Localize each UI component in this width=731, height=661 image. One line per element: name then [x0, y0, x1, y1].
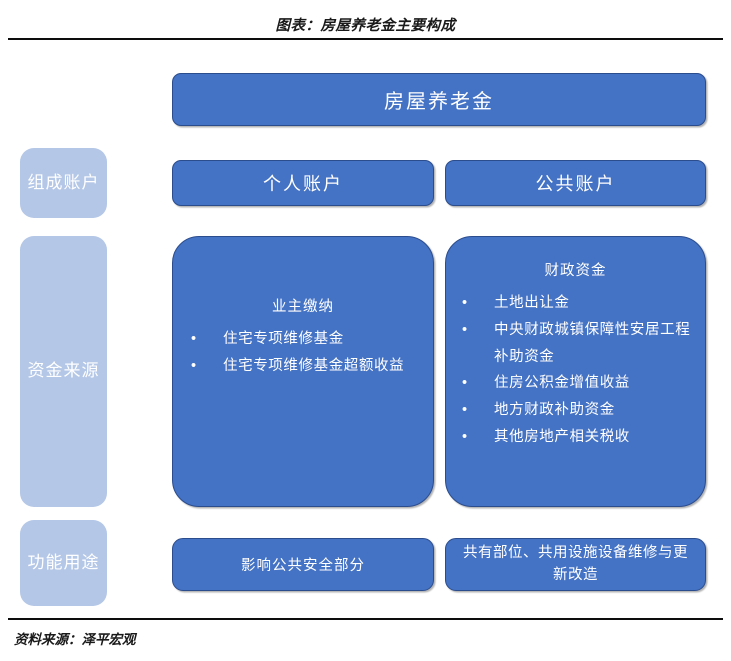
list-item: • 中央财政城镇保障性安居工程补助资金 — [462, 317, 705, 371]
list-item: • 住房公积金增值收益 — [462, 370, 705, 397]
sidebar-item-funding: 资金来源 — [20, 236, 107, 507]
list-item-label: 住房公积金增值收益 — [494, 375, 630, 391]
diagram-node-personal-account: 个人账户 — [172, 160, 434, 206]
owner-funding-list: • 住宅专项维修基金 • 住宅专项维修基金超额收益 — [173, 326, 433, 380]
diagram-node-public-use-label: 共有部位、共用设施设备维修与更新改造 — [456, 543, 695, 587]
diagram-node-personal-use: 影响公共安全部分 — [172, 538, 434, 591]
fiscal-funding-heading: 财政资金 — [446, 259, 705, 280]
owner-funding-heading: 业主缴纳 — [173, 295, 433, 316]
diagram-node-personal-account-label: 个人账户 — [263, 170, 343, 196]
source-note: 资料来源：泽平宏观 — [14, 628, 136, 648]
sidebar-item-use: 功能用途 — [20, 520, 107, 606]
diagram-node-root-label: 房屋养老金 — [384, 85, 494, 114]
fiscal-funding-list: • 土地出让金 • 中央财政城镇保障性安居工程补助资金 • 住房公积金增值收益 … — [446, 290, 705, 451]
bullet-icon: • — [462, 370, 468, 397]
bullet-icon: • — [462, 317, 468, 344]
diagram-node-public-use: 共有部位、共用设施设备维修与更新改造 — [445, 538, 706, 591]
list-item: • 其他房地产相关税收 — [462, 424, 705, 451]
list-item-label: 地方财政补助资金 — [494, 402, 615, 418]
bullet-icon: • — [462, 397, 468, 424]
footer-divider — [8, 618, 723, 620]
page-title: 图表：房屋养老金主要构成 — [0, 14, 731, 35]
diagram-node-personal-use-label: 影响公共安全部分 — [241, 554, 365, 575]
diagram-node-fiscal-funding: 财政资金 • 土地出让金 • 中央财政城镇保障性安居工程补助资金 • 住房公积金… — [445, 236, 706, 507]
diagram-node-public-account-label: 公共账户 — [536, 170, 616, 196]
diagram-node-owner-funding: 业主缴纳 • 住宅专项维修基金 • 住宅专项维修基金超额收益 — [172, 236, 434, 507]
sidebar-item-label: 资金来源 — [28, 360, 100, 383]
list-item: • 住宅专项维修基金 — [191, 326, 433, 353]
list-item-label: 土地出让金 — [494, 295, 570, 311]
header-divider — [8, 38, 723, 40]
list-item-label: 住宅专项维修基金超额收益 — [223, 358, 404, 374]
sidebar-item-accounts: 组成账户 — [20, 148, 107, 218]
list-item-label: 中央财政城镇保障性安居工程补助资金 — [494, 322, 690, 365]
bullet-icon: • — [191, 326, 197, 353]
list-item: • 地方财政补助资金 — [462, 397, 705, 424]
diagram-node-root: 房屋养老金 — [172, 73, 706, 126]
list-item: • 住宅专项维修基金超额收益 — [191, 353, 433, 380]
diagram-node-public-account: 公共账户 — [445, 160, 706, 206]
sidebar-item-label: 功能用途 — [28, 552, 100, 575]
bullet-icon: • — [462, 424, 468, 451]
sidebar-item-label: 组成账户 — [28, 172, 100, 195]
list-item: • 土地出让金 — [462, 290, 705, 317]
bullet-icon: • — [191, 353, 197, 380]
bullet-icon: • — [462, 290, 468, 317]
list-item-label: 其他房地产相关税收 — [494, 429, 630, 445]
list-item-label: 住宅专项维修基金 — [223, 331, 344, 347]
